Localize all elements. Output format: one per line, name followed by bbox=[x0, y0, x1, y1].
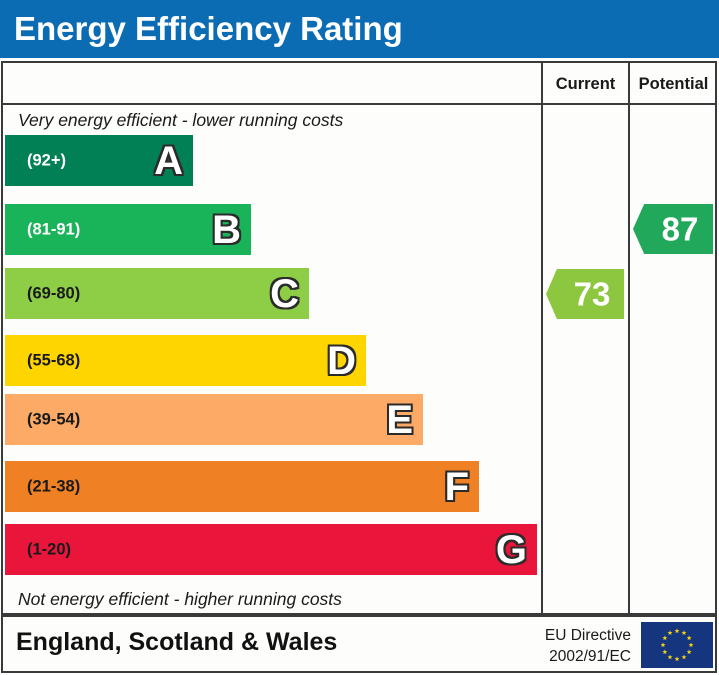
title-bar: Energy Efficiency Rating bbox=[0, 0, 719, 58]
band-bar-g: (1-20) G bbox=[5, 524, 537, 575]
eu-flag-icon bbox=[641, 622, 713, 668]
band-letter-b: B bbox=[212, 210, 241, 250]
band-letter-d: D bbox=[327, 341, 356, 381]
current-rating-arrow: 73 bbox=[546, 269, 624, 319]
column-divider-current bbox=[541, 61, 543, 615]
band-letter-g: G bbox=[496, 530, 527, 570]
band-bar-c: (69-80) C bbox=[5, 268, 309, 319]
eu-directive-line-2: 2002/91/EC bbox=[521, 646, 631, 667]
header-row-separator bbox=[1, 103, 717, 105]
band-range-c: (69-80) bbox=[27, 284, 80, 303]
column-divider-potential bbox=[628, 61, 630, 615]
band-range-g: (1-20) bbox=[27, 540, 71, 559]
band-letter-c: C bbox=[270, 274, 299, 314]
band-bar-e: (39-54) E bbox=[5, 394, 423, 445]
band-bar-d: (55-68) D bbox=[5, 335, 366, 386]
eu-directive-text: EU Directive 2002/91/EC bbox=[521, 625, 631, 667]
potential-rating-value: 87 bbox=[633, 213, 713, 246]
band-range-f: (21-38) bbox=[27, 477, 80, 496]
band-bar-f: (21-38) F bbox=[5, 461, 479, 512]
band-range-e: (39-54) bbox=[27, 410, 80, 429]
band-range-b: (81-91) bbox=[27, 220, 80, 239]
current-rating-value: 73 bbox=[546, 278, 624, 311]
caption-not-efficient: Not energy efficient - higher running co… bbox=[18, 588, 342, 610]
column-header-potential: Potential bbox=[630, 72, 717, 96]
eu-directive-line-1: EU Directive bbox=[521, 625, 631, 646]
page-title: Energy Efficiency Rating bbox=[14, 10, 403, 48]
band-bar-b: (81-91) B bbox=[5, 204, 251, 255]
band-range-d: (55-68) bbox=[27, 351, 80, 370]
band-letter-f: F bbox=[445, 467, 469, 507]
caption-very-efficient: Very energy efficient - lower running co… bbox=[18, 109, 343, 131]
band-letter-a: A bbox=[154, 141, 183, 181]
band-bar-a: (92+) A bbox=[5, 135, 193, 186]
region-label: England, Scotland & Wales bbox=[16, 628, 337, 657]
band-range-a: (92+) bbox=[27, 151, 66, 170]
potential-rating-arrow: 87 bbox=[633, 204, 713, 254]
band-letter-e: E bbox=[386, 400, 413, 440]
column-header-current: Current bbox=[543, 72, 628, 96]
energy-efficiency-rating-certificate: Energy Efficiency Rating Current Potenti… bbox=[0, 0, 719, 675]
